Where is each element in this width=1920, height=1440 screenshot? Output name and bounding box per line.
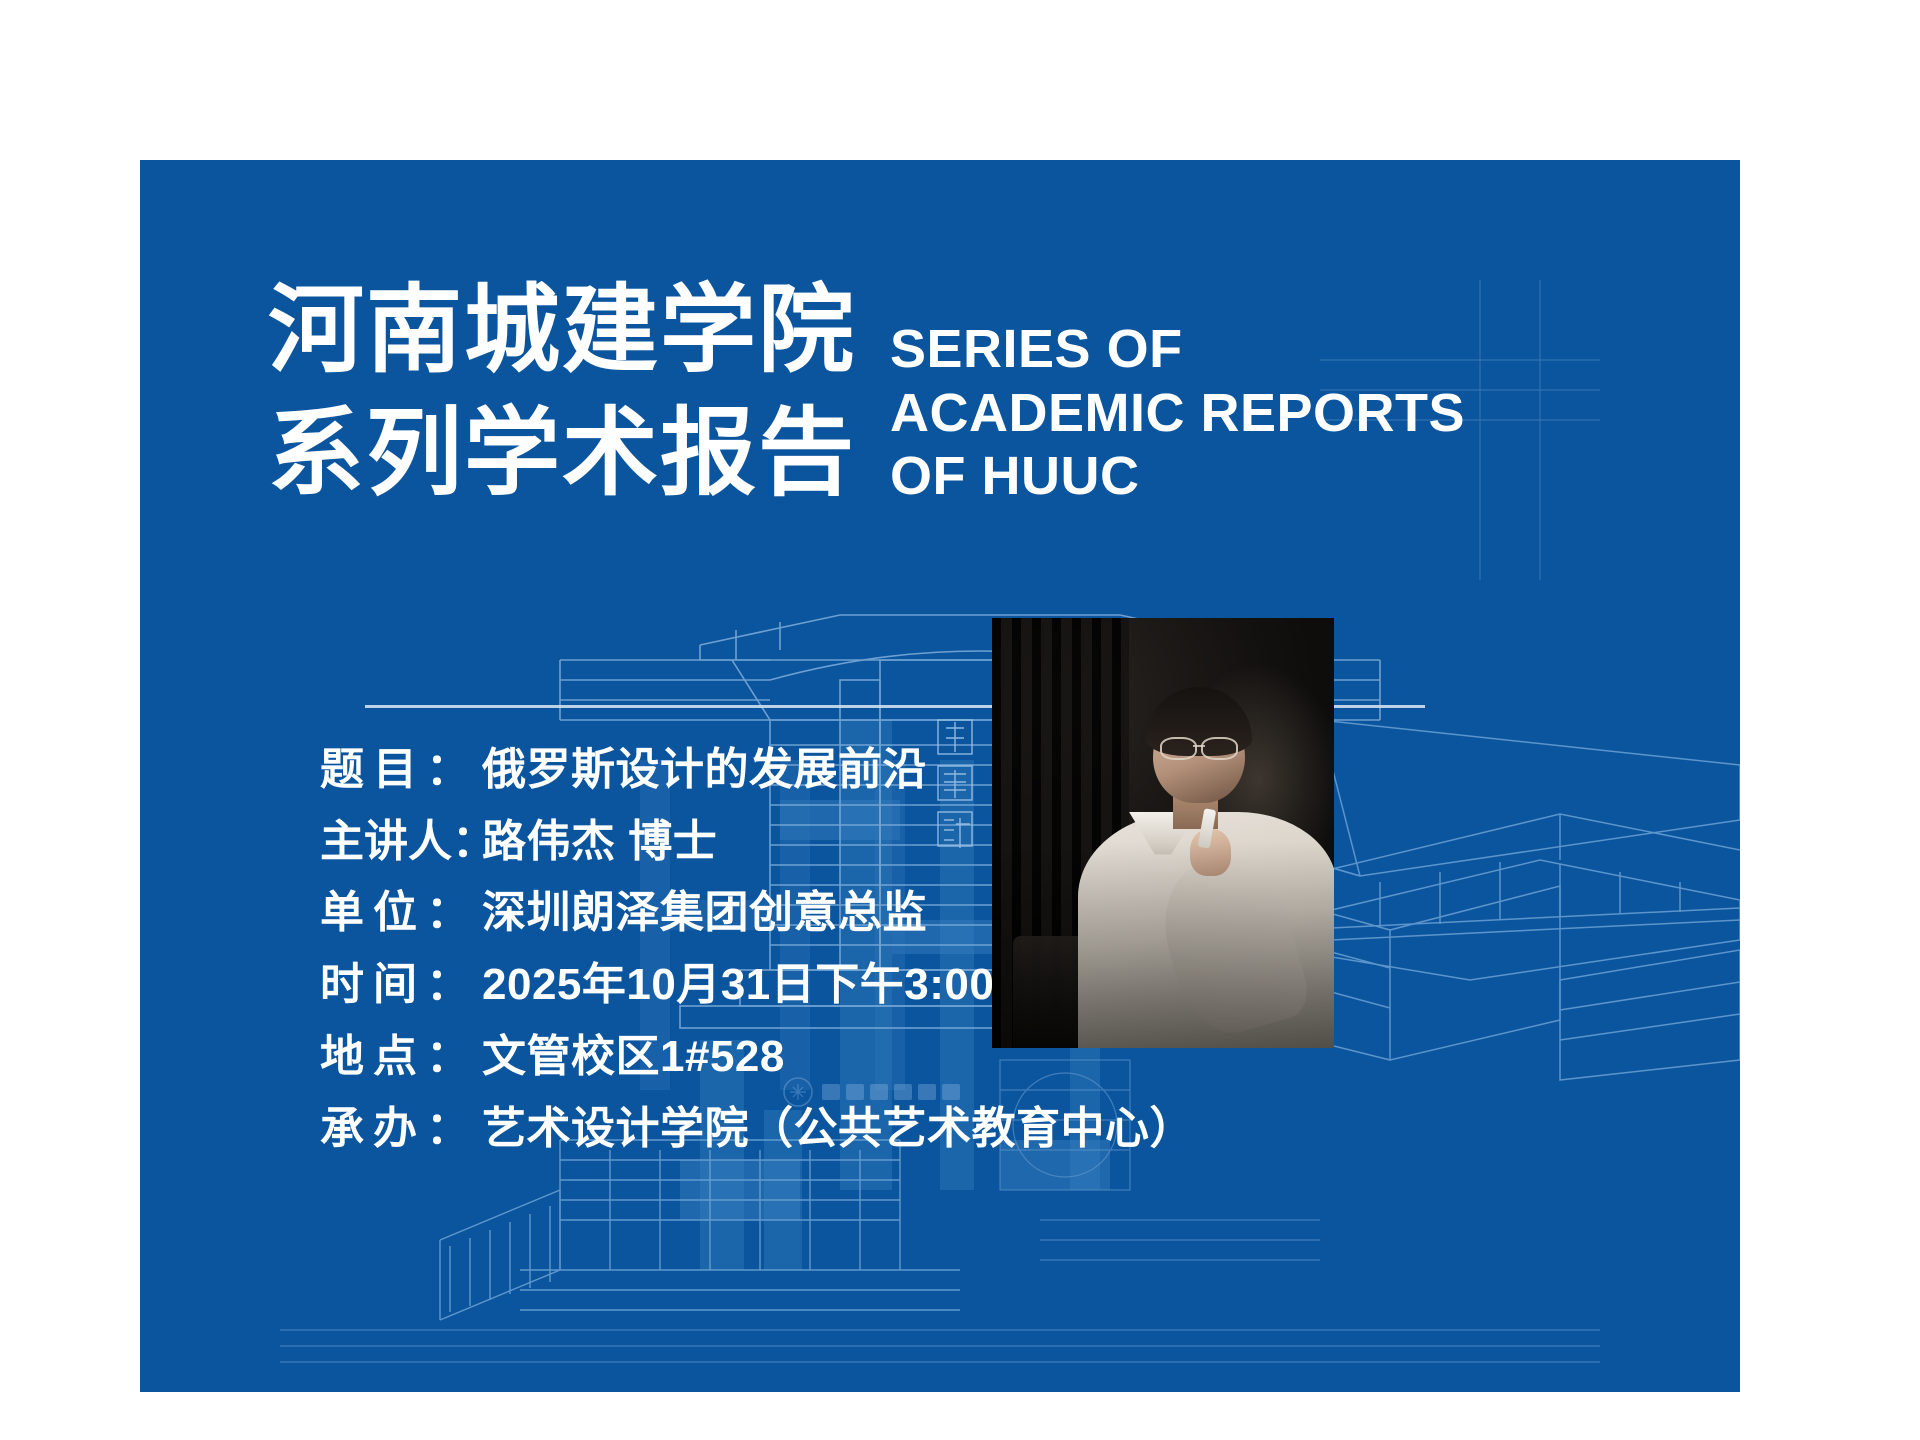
poster-header: 河南城建学院 系列学术报告 SERIES OF ACADEMIC REPORTS… <box>268 270 1465 516</box>
info-value-topic: 俄罗斯设计的发展前沿 <box>482 740 927 801</box>
info-row-organizer: 承 办 ： 艺术设计学院（公共艺术教育中心） <box>320 1099 1194 1160</box>
info-label-topic: 题 目 ： <box>320 740 470 801</box>
english-title-line-3: OF HUUC <box>890 445 1465 509</box>
poster-canvas: 河南城建学院 系列学术报告 SERIES OF ACADEMIC REPORTS… <box>0 0 1920 1440</box>
english-title: SERIES OF ACADEMIC REPORTS OF HUUC <box>890 318 1465 509</box>
english-title-line-1: SERIES OF <box>890 318 1465 382</box>
info-label-speaker: 主讲 人 ： <box>320 812 470 873</box>
english-title-line-2: ACADEMIC REPORTS <box>890 382 1465 446</box>
info-value-affiliation: 深圳朗泽集团创意总监 <box>482 883 927 944</box>
info-value-organizer: 艺术设计学院（公共艺术教育中心） <box>482 1099 1194 1160</box>
info-value-location: 文管校区1#528 <box>482 1027 785 1088</box>
info-label-time: 时 间 ： <box>320 955 470 1016</box>
chinese-title-line-1: 河南城建学院 <box>268 270 856 393</box>
poster-panel: 河南城建学院 系列学术报告 SERIES OF ACADEMIC REPORTS… <box>140 160 1740 1392</box>
chinese-title: 河南城建学院 系列学术报告 <box>268 270 856 516</box>
info-label-affiliation: 单 位 ： <box>320 883 470 944</box>
info-value-speaker: 路伟杰 博士 <box>482 812 717 873</box>
info-label-organizer: 承 办 ： <box>320 1099 470 1160</box>
portrait-image <box>992 618 1334 1048</box>
chinese-title-line-2: 系列学术报告 <box>268 393 856 516</box>
info-label-location: 地 点 ： <box>320 1027 470 1088</box>
speaker-portrait-photo <box>992 618 1334 1048</box>
